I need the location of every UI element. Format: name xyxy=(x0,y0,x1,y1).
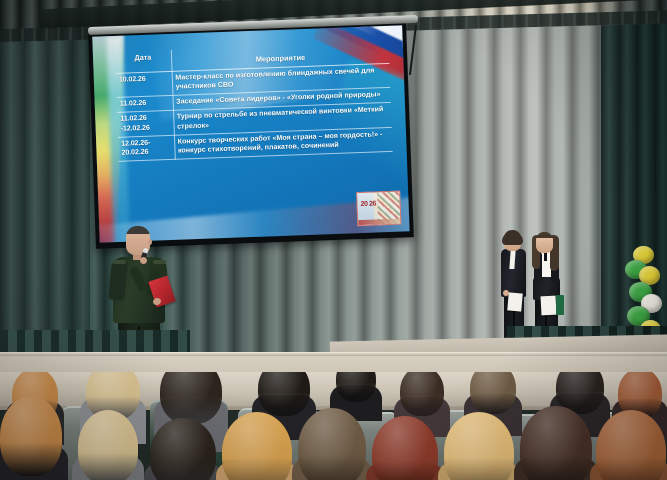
student-left-hair xyxy=(502,232,523,245)
audience-member-head xyxy=(258,372,310,416)
student-left-hand xyxy=(503,290,509,296)
seated-audience xyxy=(0,372,667,480)
student-right-head xyxy=(536,232,553,253)
presenter-left-epaulette xyxy=(113,260,126,264)
presentation-slide: Дата Мероприятие 10.02.26 Мастер-класс п… xyxy=(92,25,409,242)
audience-member-head xyxy=(160,372,222,424)
projection-screen: Дата Мероприятие 10.02.26 Мастер-класс п… xyxy=(88,22,414,249)
audience-member-head xyxy=(0,396,62,476)
student-right-papers xyxy=(541,296,557,316)
cell-date: 12.02.26- 20.02.26 xyxy=(118,135,175,161)
student-left-papers xyxy=(507,292,523,311)
schedule-table: Дата Мероприятие 10.02.26 Мастер-класс п… xyxy=(115,42,393,162)
photograph-scene: Дата Мероприятие 10.02.26 Мастер-класс п… xyxy=(0,0,667,480)
slide-emblem-badge: 20 26 xyxy=(356,191,401,227)
cell-date: 10.02.26 xyxy=(116,71,173,97)
presenter-ear xyxy=(148,239,152,245)
schedule-table-body: 10.02.26 Мастер-класс по изготовлению бл… xyxy=(116,63,393,162)
presenter-right-epaulette xyxy=(153,260,166,264)
column-header-date: Дата xyxy=(115,50,172,73)
audience-member-head xyxy=(150,418,216,480)
badge-year-label: 20 26 xyxy=(361,201,377,208)
audience-member-head xyxy=(78,410,138,480)
student-right-tie xyxy=(544,252,547,261)
stage-apron-edge xyxy=(0,352,667,356)
cell-date: 11.02.26 -12.02.26 xyxy=(117,111,174,137)
audience-member-head xyxy=(520,406,592,480)
audience-member-head xyxy=(400,372,444,416)
presenter-mic-hand xyxy=(140,257,147,264)
student-right-green-folder xyxy=(556,295,564,315)
audience-member-head xyxy=(470,372,516,414)
badge-bottom-stripe xyxy=(358,219,401,226)
audience-member-head xyxy=(298,408,366,480)
